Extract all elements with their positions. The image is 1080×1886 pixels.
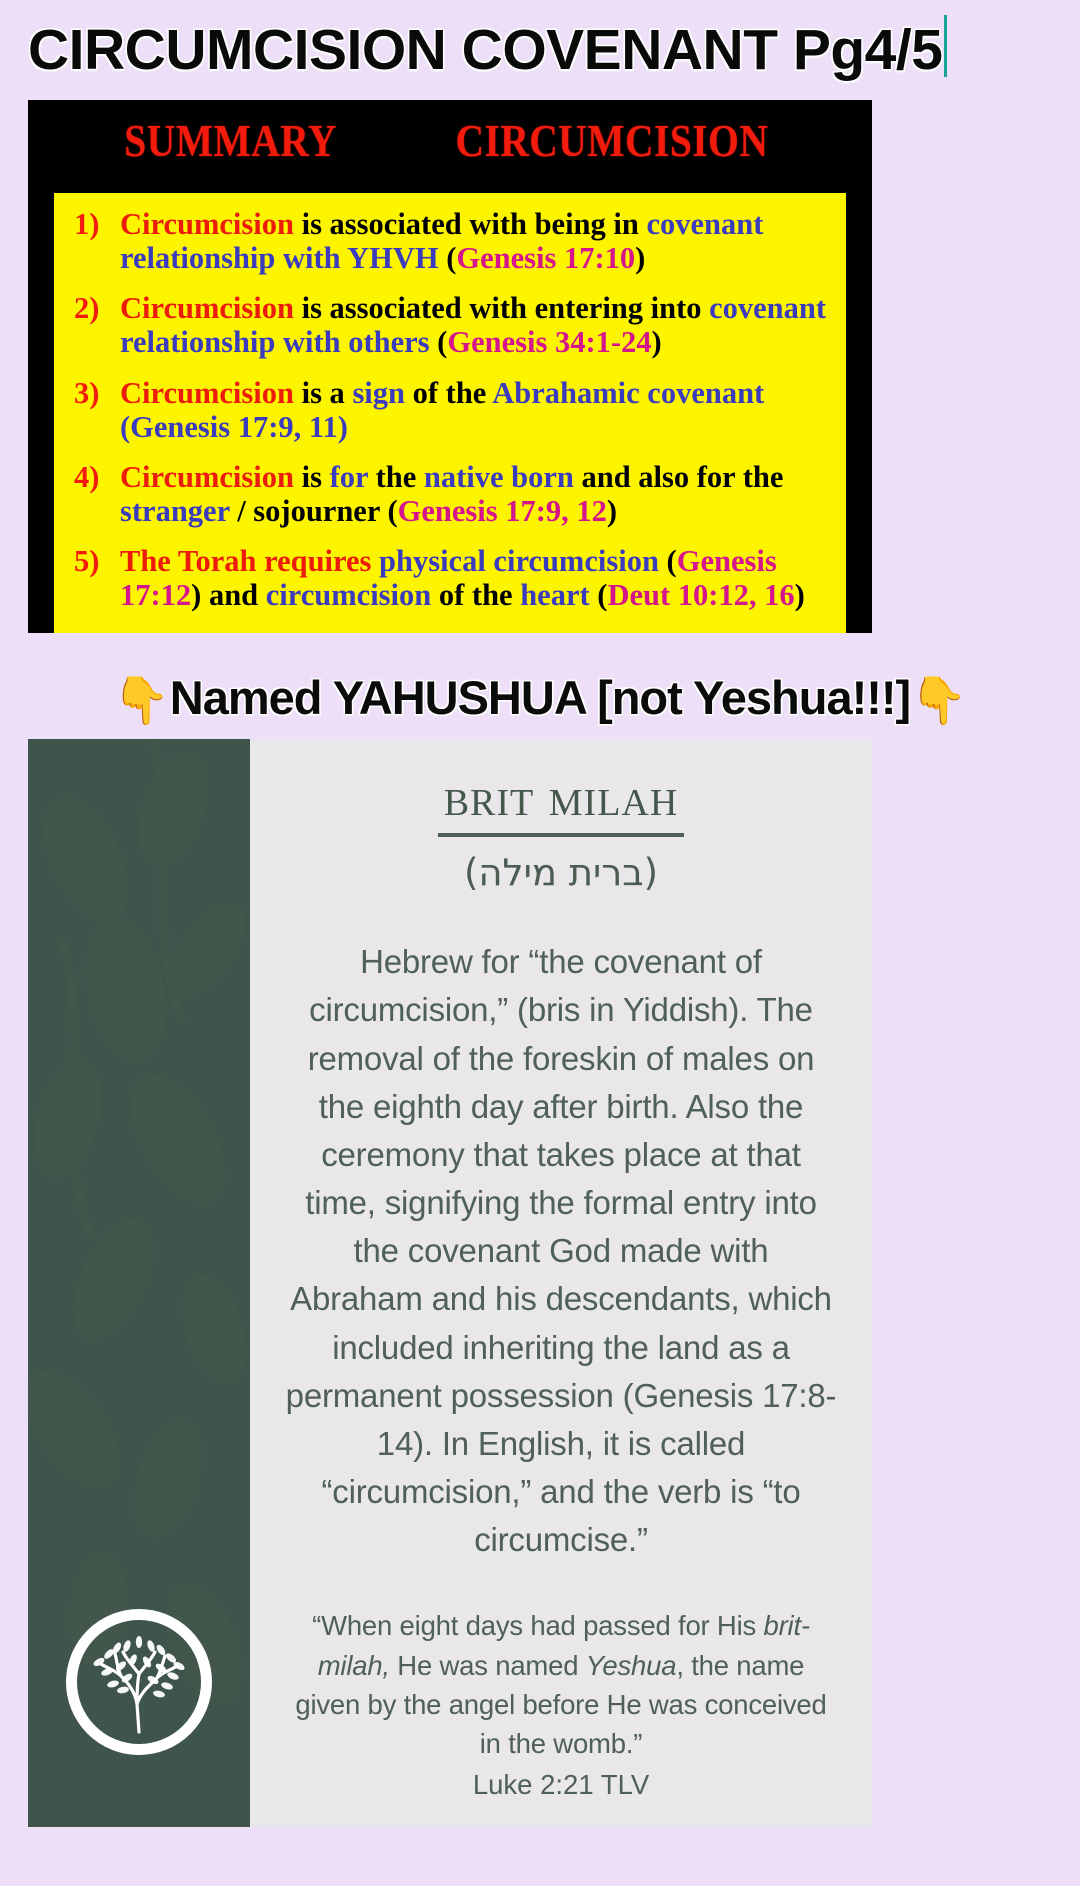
summary-text-run: Circumcision (120, 376, 302, 410)
summary-text-run: is associated with entering into (302, 291, 710, 325)
summary-text-run: ) and (191, 578, 266, 612)
summary-item-number: 4) (62, 460, 120, 494)
summary-list: 1)Circumcision is associated with being … (62, 207, 830, 613)
summary-list-panel: 1)Circumcision is associated with being … (54, 193, 846, 633)
summary-text-run: sign (352, 376, 412, 410)
page-title-row: CIRCUMCISION COVENANT Pg4/5 (0, 0, 1080, 100)
summary-text-run: / sojourner (237, 494, 387, 528)
summary-text-run: Abrahamic covenant (492, 376, 764, 410)
summary-text-run: ( (597, 578, 607, 612)
summary-item-number: 3) (62, 376, 120, 410)
card-scripture-quote: “When eight days had passed for His brit… (284, 1606, 838, 1762)
card-content: Brit Milah (ברית מילה) Hebrew for “the c… (250, 739, 872, 1827)
caption-text: Named YAHUSHUA [not Yeshua!!!] (170, 670, 910, 725)
summary-text-run: and also for the (581, 460, 783, 494)
summary-heading-left: SUMMARY (124, 114, 337, 167)
summary-heading-right: CIRCUMCISION (455, 114, 768, 167)
summary-text-run: ( (446, 241, 456, 275)
tree-icon (77, 1620, 201, 1744)
summary-text-run: Circumcision (120, 460, 302, 494)
summary-item: 3)Circumcision is a sign of the Abrahami… (62, 376, 830, 444)
summary-item-number: 2) (62, 291, 120, 325)
summary-text-run: ) (652, 325, 662, 359)
summary-item: 2)Circumcision is associated with enteri… (62, 291, 830, 359)
card-title-hebrew: (ברית מילה) (284, 851, 838, 894)
summary-text-run: of the (439, 578, 520, 612)
summary-item-text: Circumcision is associated with being in… (120, 207, 830, 275)
page-title: CIRCUMCISION COVENANT Pg4/5 (28, 17, 942, 83)
quote-part-2: He was named (390, 1650, 586, 1681)
summary-text-run: is a (302, 376, 353, 410)
leaf-pattern-decoration (28, 739, 250, 1749)
tree-of-life-logo (66, 1609, 212, 1755)
summary-text-run: physical circumcision (379, 544, 667, 578)
brit-milah-card: Brit Milah (ברית מילה) Hebrew for “the c… (28, 739, 872, 1827)
summary-text-run: ) (607, 494, 617, 528)
summary-item-text: Circumcision is for the native born and … (120, 460, 830, 528)
summary-item-text: The Torah requires physical circumcision… (120, 544, 830, 612)
summary-text-run: Genesis 34:1-24 (447, 325, 651, 359)
summary-text-run: stranger (120, 494, 237, 528)
logo-ring (66, 1609, 212, 1755)
summary-text-run: (Genesis 17:9, 11) (120, 410, 348, 444)
summary-slide: SUMMARY CIRCUMCISION 1)Circumcision is a… (28, 100, 872, 633)
summary-text-run: of the (413, 376, 493, 410)
summary-text-run: Genesis 17:10 (456, 241, 635, 275)
summary-text-run: the (376, 460, 424, 494)
summary-item-number: 5) (62, 544, 120, 578)
card-scripture-reference: Luke 2:21 TLV (284, 1769, 838, 1801)
pointing-down-icon-right: 👇 (910, 677, 967, 723)
card-body-text: Hebrew for “the covenant of circumcision… (284, 938, 838, 1564)
summary-item-text: Circumcision is a sign of the Abrahamic … (120, 376, 830, 444)
summary-text-run: is (302, 460, 330, 494)
quote-italic-yeshua: Yeshua (586, 1650, 677, 1681)
summary-text-run: heart (520, 578, 597, 612)
card-title: Brit Milah (438, 769, 685, 838)
summary-text-run: Deut 10:12, 16 (607, 578, 794, 612)
summary-text-run: Circumcision (120, 291, 302, 325)
summary-text-run: for (330, 460, 376, 494)
summary-slide-header: SUMMARY CIRCUMCISION (28, 100, 872, 173)
summary-text-run: ( (387, 494, 397, 528)
summary-text-run: ) (635, 241, 645, 275)
summary-text-run: ( (667, 544, 677, 578)
page-root: CIRCUMCISION COVENANT Pg4/5 SUMMARY CIRC… (0, 0, 1080, 1886)
card-title-wrap: Brit Milah (284, 769, 838, 838)
summary-text-run: circumcision (266, 578, 439, 612)
text-cursor (944, 15, 947, 77)
summary-item-number: 1) (62, 207, 120, 241)
summary-text-run: is associated with being in (302, 207, 647, 241)
summary-text-run: Circumcision (120, 207, 302, 241)
caption-row: 👇 Named YAHUSHUA [not Yeshua!!!] 👇 (0, 657, 1080, 739)
summary-text-run: ) (795, 578, 805, 612)
pointing-down-icon-left: 👇 (113, 677, 170, 723)
summary-item: 1)Circumcision is associated with being … (62, 207, 830, 275)
summary-text-run: The Torah requires (120, 544, 379, 578)
quote-part-1: “When eight days had passed for His (312, 1610, 763, 1641)
summary-item-text: Circumcision is associated with entering… (120, 291, 830, 359)
card-sidebar (28, 739, 250, 1827)
summary-text-run: ( (437, 325, 447, 359)
summary-text-run: native born (424, 460, 582, 494)
summary-item: 4)Circumcision is for the native born an… (62, 460, 830, 528)
summary-text-run: Genesis 17:9, 12 (398, 494, 607, 528)
summary-item: 5)The Torah requires physical circumcisi… (62, 544, 830, 612)
